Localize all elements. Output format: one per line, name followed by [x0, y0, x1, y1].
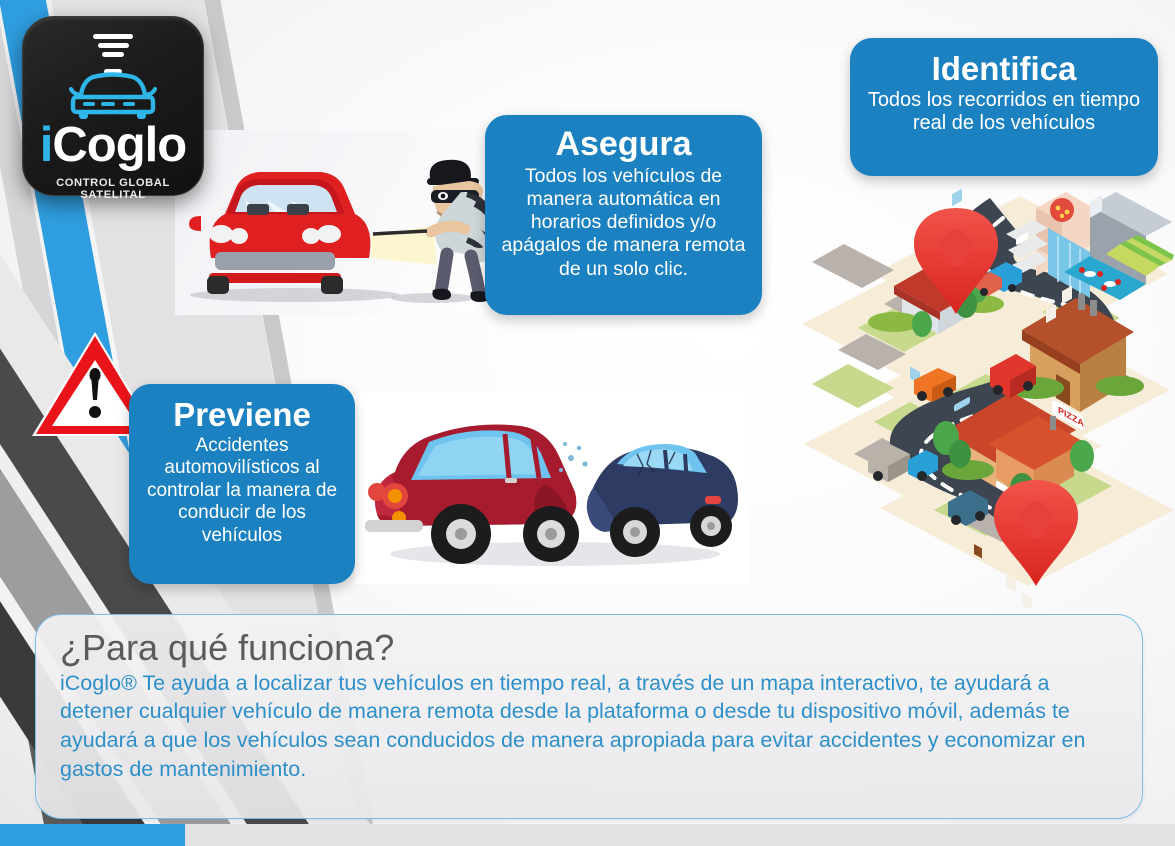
- logo-wordmark-i: i: [40, 118, 53, 172]
- icoglo-logo[interactable]: iCoglo CONTROL GLOBAL SATELITAL: [22, 16, 204, 196]
- car-theft-illustration: [175, 130, 505, 315]
- info-panel: ¿Para qué funciona? iCoglo® Te ayuda a l…: [35, 614, 1143, 819]
- card-identifica[interactable]: Identifica Todos los recorridos en tiemp…: [850, 38, 1158, 176]
- panel-paragraph: iCoglo® Te ayuda a localizar tus vehícul…: [60, 669, 1118, 783]
- logo-tagline: CONTROL GLOBAL SATELITAL: [23, 177, 203, 201]
- card-previene-title: Previene: [139, 398, 345, 433]
- isometric-city-map-illustration: PIZZA: [790, 188, 1175, 608]
- card-identifica-body: Todos los recorridos en tiempo real de l…: [864, 89, 1144, 137]
- logo-wordmark-rest: Coglo: [52, 118, 186, 172]
- car-satellite-icon: [67, 69, 159, 124]
- card-previene[interactable]: Previene Accidentes automovilísticos al …: [129, 384, 355, 584]
- card-previene-body: Accidentes automovilísticos al controlar…: [139, 435, 345, 548]
- card-asegura-body: Todos los vehículos de manera automática…: [499, 165, 748, 281]
- logo-wordmark: iCoglo: [23, 121, 203, 170]
- signal-waves-icon: [90, 34, 136, 61]
- panel-heading: ¿Para qué funciona?: [60, 629, 1118, 667]
- card-identifica-title: Identifica: [864, 52, 1144, 87]
- card-asegura-title: Asegura: [499, 127, 748, 163]
- card-asegura[interactable]: Asegura Todos los vehículos de manera au…: [485, 115, 762, 315]
- car-crash-illustration: [355, 392, 750, 584]
- bottom-bar-mask: [185, 824, 1175, 846]
- infographic-root: PIZZA: [0, 0, 1175, 846]
